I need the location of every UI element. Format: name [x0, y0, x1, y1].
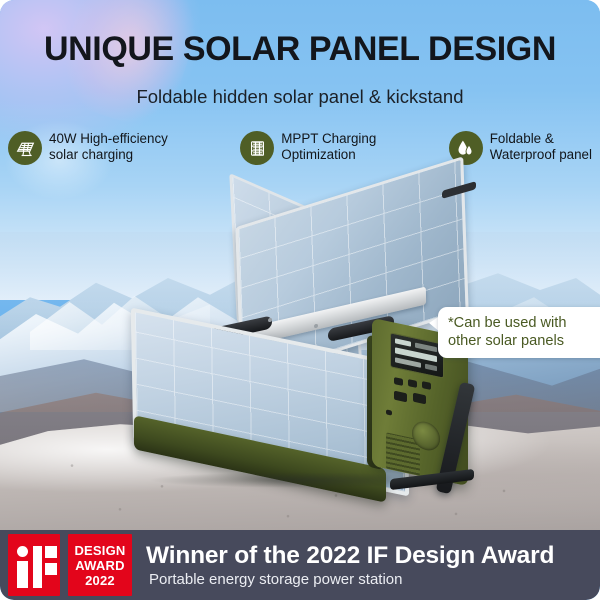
design-award-badge: DESIGN AWARD 2022 [68, 534, 132, 596]
if-logo-dot [17, 546, 28, 557]
page-subtitle: Foldable hidden solar panel & kickstand [0, 86, 600, 108]
page-title: UNIQUE SOLAR PANEL DESIGN [0, 30, 600, 69]
award-subtitle: Portable energy storage power station [146, 570, 600, 589]
feature-item-solar-charging: 40W High-efficiency solar charging [8, 130, 168, 165]
product-marketing-poster: UNIQUE SOLAR PANEL DESIGN Foldable hidde… [0, 0, 600, 600]
power-button[interactable] [386, 409, 392, 415]
design-award-line-3: 2022 [85, 574, 115, 588]
callout-text: *Can be used with other solar panels [448, 314, 600, 350]
award-text-group: Winner of the 2022 IF Design Award Porta… [132, 530, 600, 600]
feature-label: Foldable & Waterproof panel [490, 130, 592, 163]
if-logo-i-stem [17, 561, 28, 588]
award-bar: DESIGN AWARD 2022 Winner of the 2022 IF … [0, 530, 600, 600]
solar-panel-icon [8, 131, 42, 165]
design-award-line-1: DESIGN [74, 544, 125, 558]
feature-label: MPPT Charging Optimization [281, 130, 376, 163]
if-logo-f-lower-arm [45, 563, 57, 575]
if-logo-icon [8, 534, 60, 596]
product-shadow [148, 472, 448, 488]
callout-bubble: *Can be used with other solar panels [438, 307, 600, 358]
if-logo-f-stem [33, 546, 42, 588]
feature-item-waterproof: Foldable & Waterproof panel [449, 130, 592, 165]
if-logo-f-upper-arm [45, 546, 57, 558]
feature-item-mppt: MPPT Charging Optimization [240, 130, 376, 165]
mppt-grid-icon [240, 131, 274, 165]
award-title: Winner of the 2022 IF Design Award [146, 542, 600, 570]
product-image [118, 186, 488, 496]
design-award-line-2: AWARD [75, 559, 124, 573]
feature-list: 40W High-efficiency solar charging MPPT … [8, 130, 592, 165]
feature-label: 40W High-efficiency solar charging [49, 130, 168, 163]
